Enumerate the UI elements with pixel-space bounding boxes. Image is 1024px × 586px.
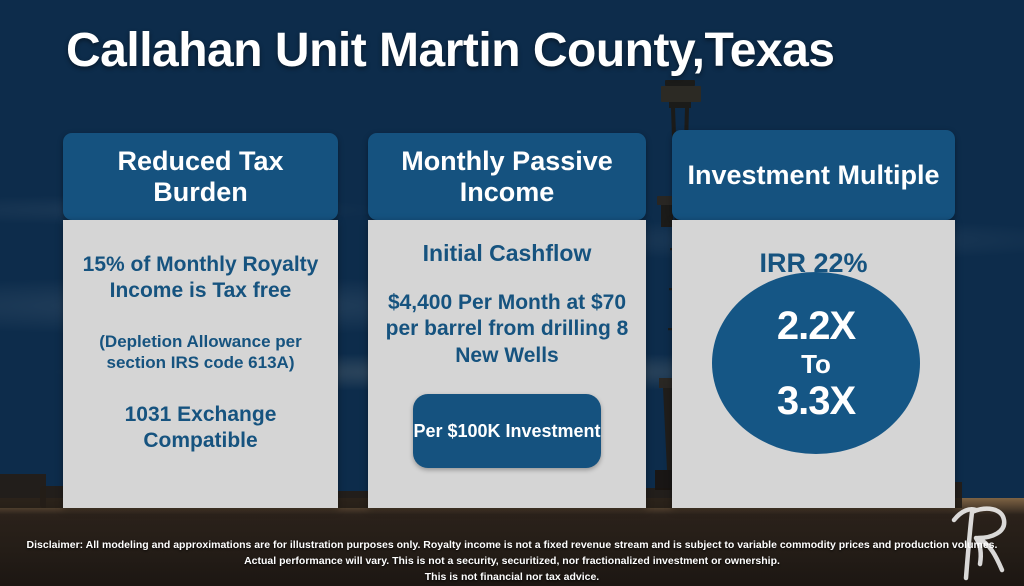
card-header-monthly-passive-income: Monthly Passive Income [368, 133, 646, 220]
disclaimer-line-3: This is not financial nor tax advice. [6, 570, 1018, 586]
card-investment-multiple: Investment Multiple IRR 22% 2.2X To 3.3X [672, 130, 955, 508]
silhouette-tank-left [0, 474, 46, 508]
initial-cashflow-label: Initial Cashflow [368, 220, 646, 268]
disclaimer-line-1: Disclaimer: All modeling and approximati… [6, 538, 1018, 554]
card-reduced-tax-burden: Reduced Tax Burden 15% of Monthly Royalt… [63, 133, 338, 508]
disclaimer: Disclaimer: All modeling and approximati… [0, 538, 1024, 586]
depletion-allowance-note: (Depletion Allowance per section IRS cod… [63, 305, 338, 374]
card-header-reduced-tax-burden: Reduced Tax Burden [63, 133, 338, 220]
exchange-compatible-statement: 1031 Exchange Compatible [63, 374, 338, 455]
card-monthly-passive-income: Monthly Passive Income Initial Cashflow … [368, 133, 646, 508]
card-body-investment-multiple: IRR 22% 2.2X To 3.3X [672, 220, 955, 508]
card-body-reduced-tax-burden: 15% of Monthly Royalty Income is Tax fre… [63, 220, 338, 508]
card-header-investment-multiple: Investment Multiple [672, 130, 955, 220]
page-title: Callahan Unit Martin County,Texas [66, 26, 996, 77]
presentation-slide: Callahan Unit Martin County,Texas Reduce… [0, 0, 1024, 586]
multiple-low-value: 2.2X [777, 306, 855, 346]
cashflow-detail: $4,400 Per Month at $70 per barrel from … [368, 268, 646, 371]
disclaimer-line-2: Actual performance will vary. This is no… [6, 554, 1018, 570]
irr-value: IRR 22% [672, 220, 955, 279]
multiple-high-value: 3.3X [777, 381, 855, 421]
multiple-range-connector: To [801, 351, 831, 377]
card-body-monthly-passive-income: Initial Cashflow $4,400 Per Month at $70… [368, 220, 646, 508]
tax-free-statement: 15% of Monthly Royalty Income is Tax fre… [63, 220, 338, 305]
per-100k-investment-badge: Per $100K Investment [413, 394, 601, 468]
investment-multiple-circle: 2.2X To 3.3X [712, 272, 920, 454]
